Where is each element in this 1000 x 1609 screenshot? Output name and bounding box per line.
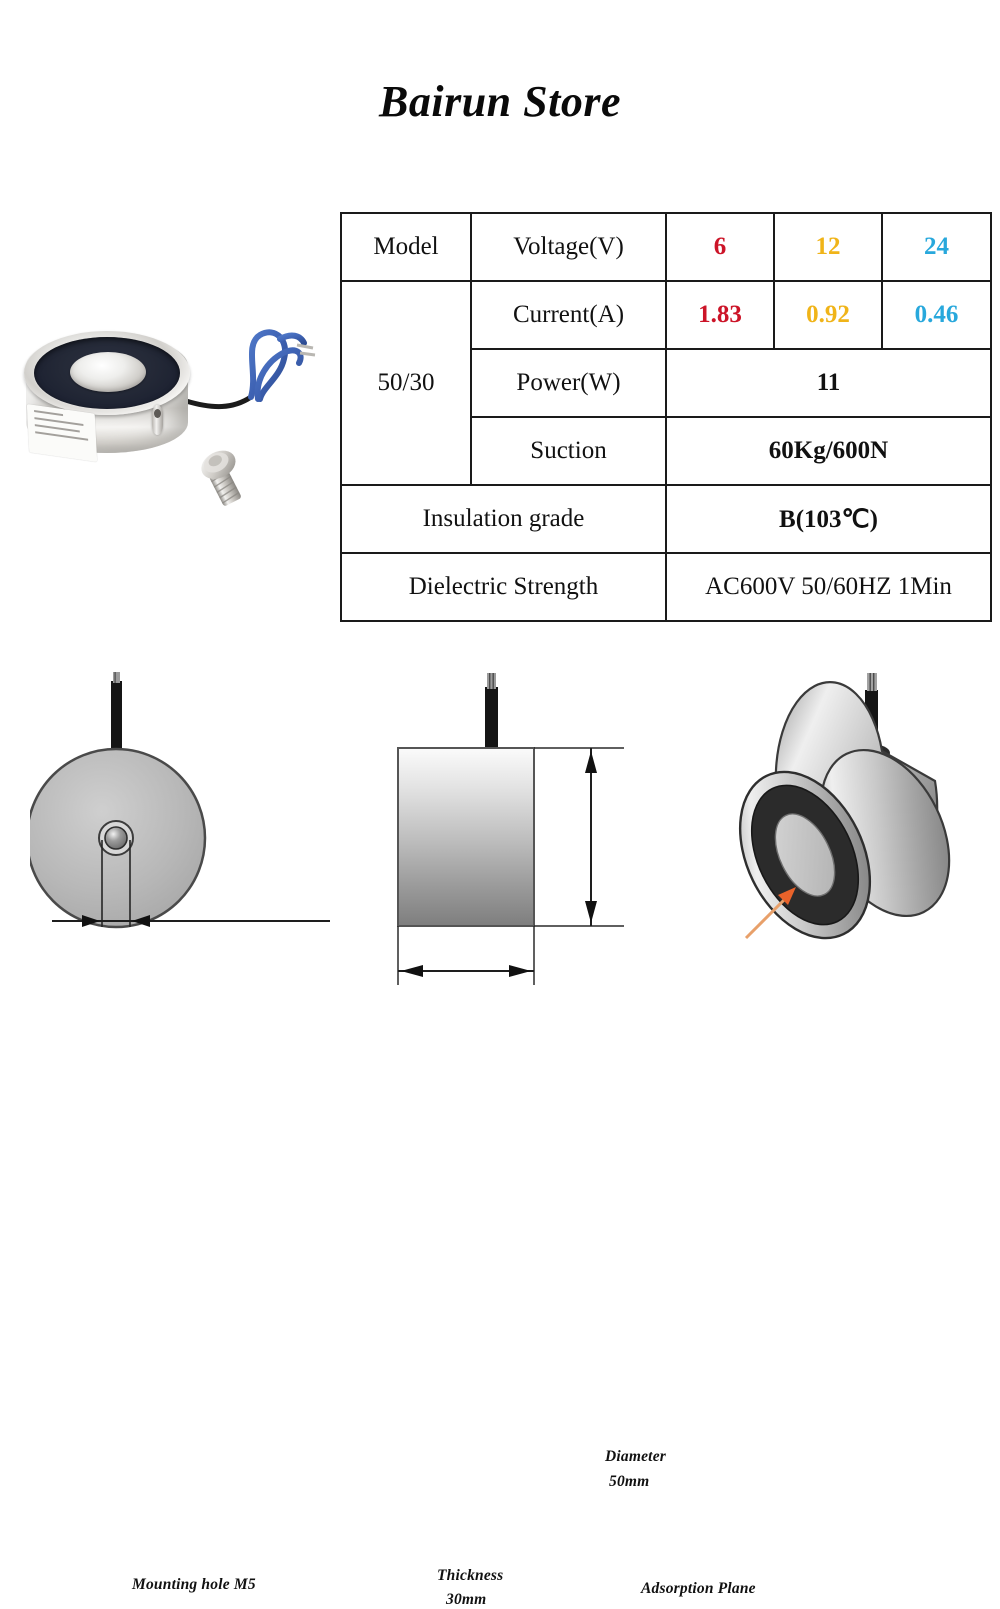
param-dielectric-strength: Dielectric Strength bbox=[341, 553, 666, 621]
cable-wire-tip bbox=[113, 672, 120, 683]
diameter-arrow-top bbox=[585, 751, 597, 773]
value-current-12: 0.92 bbox=[774, 281, 882, 349]
product-label bbox=[27, 404, 97, 462]
value-current-24: 0.46 bbox=[882, 281, 991, 349]
value-current-6: 1.83 bbox=[666, 281, 774, 349]
specification-table: Model Voltage(V) 6 12 24 50/30 Current(A… bbox=[340, 212, 992, 622]
value-insulation-grade: B(103℃) bbox=[666, 485, 991, 553]
dimension-diagrams: Mounting hole M5 bbox=[0, 655, 1000, 1000]
value-voltage-6: 6 bbox=[666, 213, 774, 281]
cable-wire-tip bbox=[487, 673, 496, 689]
magnet-core bbox=[70, 352, 146, 392]
cable-wire-tip bbox=[867, 673, 877, 691]
side-view-diagram bbox=[370, 655, 700, 1000]
wire-tip-2 bbox=[300, 353, 315, 355]
thickness-label: Thickness bbox=[437, 1567, 503, 1585]
table-row-insulation: Insulation grade B(103℃) bbox=[341, 485, 991, 553]
diameter-arrow-bottom bbox=[585, 901, 597, 923]
wire-tip-1 bbox=[297, 345, 313, 348]
thickness-arrow-right bbox=[509, 965, 531, 977]
product-photo bbox=[8, 305, 320, 520]
mounting-hole-label: Mounting hole M5 bbox=[132, 1576, 256, 1594]
diameter-value: 50mm bbox=[609, 1473, 649, 1491]
cable-stub bbox=[485, 687, 498, 749]
table-row-voltage: Model Voltage(V) 6 12 24 bbox=[341, 213, 991, 281]
param-power: Power(W) bbox=[471, 349, 666, 417]
param-voltage: Voltage(V) bbox=[471, 213, 666, 281]
adsorption-plane-label: Adsorption Plane bbox=[641, 1580, 756, 1598]
diameter-label: Diameter bbox=[605, 1448, 666, 1466]
value-suction: 60Kg/600N bbox=[666, 417, 991, 485]
value-dielectric-strength: AC600V 50/60HZ 1Min bbox=[666, 553, 991, 621]
cable-stub bbox=[111, 681, 122, 751]
mounting-hook bbox=[152, 405, 163, 435]
value-voltage-24: 24 bbox=[882, 213, 991, 281]
mounting-screw bbox=[196, 440, 258, 510]
thickness-value: 30mm bbox=[446, 1591, 486, 1609]
value-voltage-12: 12 bbox=[774, 213, 882, 281]
table-row-dielectric: Dielectric Strength AC600V 50/60HZ 1Min bbox=[341, 553, 991, 621]
value-power: 11 bbox=[666, 349, 991, 417]
header-model: Model bbox=[341, 213, 471, 281]
iso-view-diagram bbox=[700, 655, 1000, 1000]
param-insulation-grade: Insulation grade bbox=[341, 485, 666, 553]
page-title: Bairun Store bbox=[0, 76, 1000, 127]
thickness-arrow-left bbox=[401, 965, 423, 977]
mounting-hole-inner bbox=[105, 827, 127, 849]
value-model: 50/30 bbox=[341, 281, 471, 485]
table-row-current: 50/30 Current(A) 1.83 0.92 0.46 bbox=[341, 281, 991, 349]
black-cable bbox=[186, 397, 251, 407]
front-view-diagram bbox=[30, 655, 360, 1000]
param-suction: Suction bbox=[471, 417, 666, 485]
param-current: Current(A) bbox=[471, 281, 666, 349]
magnet-side-rect bbox=[398, 748, 534, 926]
